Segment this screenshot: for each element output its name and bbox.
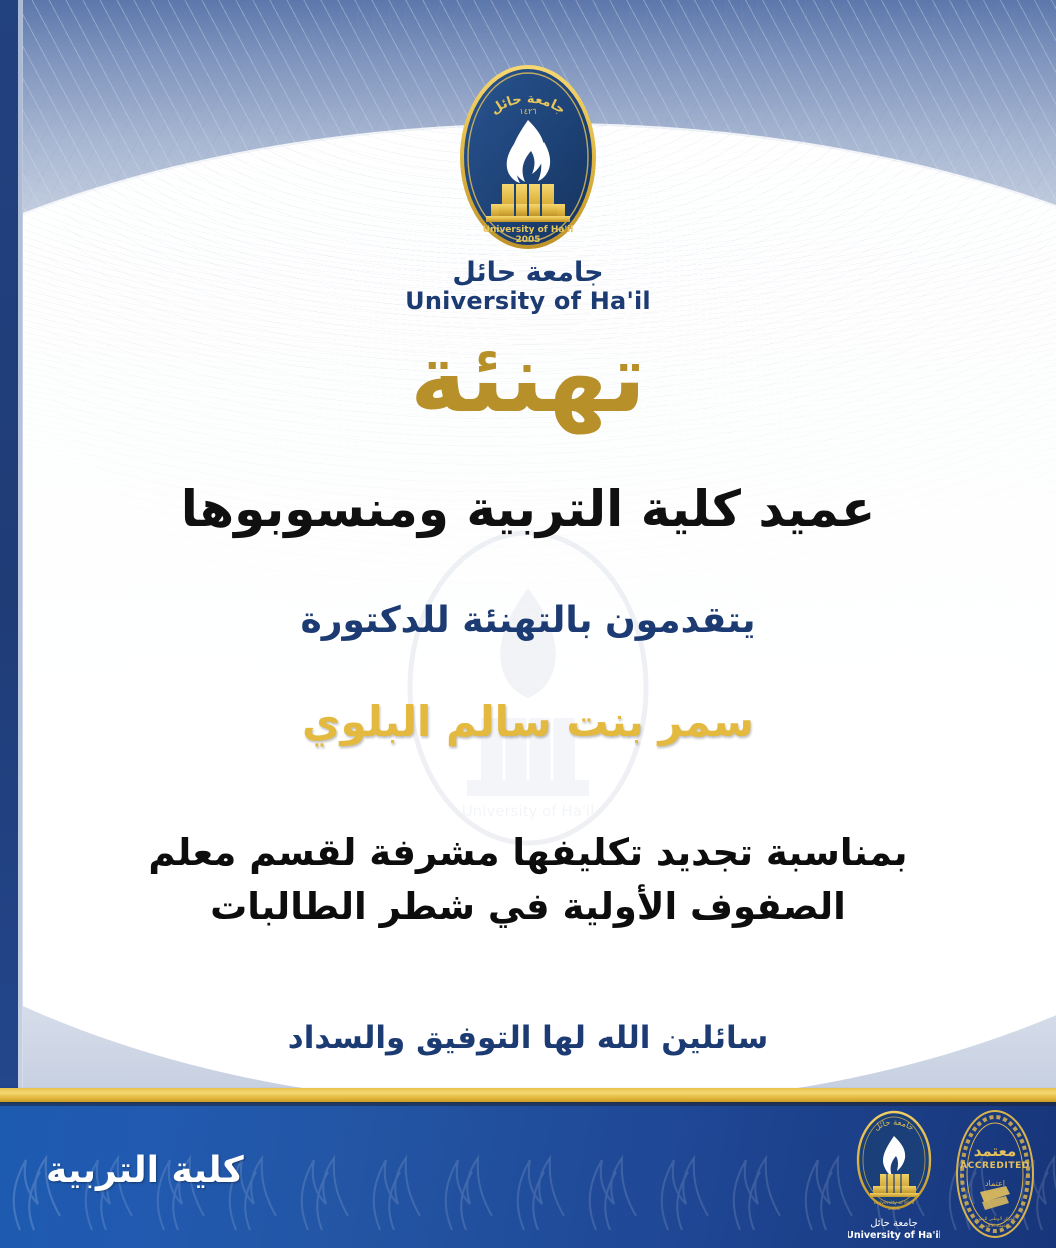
svg-text:ACCREDITED: ACCREDITED (960, 1161, 1030, 1171)
svg-text:والاعتماد الأكاديمي: والاعتماد الأكاديمي (978, 1222, 1012, 1229)
svg-text:جامعة حائل: جامعة حائل (870, 1218, 918, 1229)
accreditation-seal-icon: معتمد ACCREDITED اعتماد المركز الوطني لل… (954, 1108, 1036, 1240)
svg-text:2005: 2005 (888, 1206, 900, 1212)
university-emblem-icon: جامعة حائل ١٤٢٦ (458, 62, 598, 252)
sender-line: عميد كلية التربية ومنسوبوها (0, 478, 1056, 541)
svg-text:معتمد: معتمد (974, 1142, 1017, 1160)
occasion-line: بمناسبة تجديد تكليفها مشرفة لقسم معلم ال… (78, 826, 978, 933)
logo-wordmark-ar: جامعة حائل (378, 258, 678, 288)
svg-text:١٤٢٦: ١٤٢٦ (519, 107, 536, 116)
svg-text:المركز الوطني للتقويم: المركز الوطني للتقويم (975, 1216, 1016, 1222)
left-rail-highlight (18, 0, 23, 1090)
calligraphy-title: تهنئة (0, 330, 1056, 426)
congratulation-card: University of Ha'il (0, 0, 1056, 1248)
action-line: يتقدمون بالتهنئة للدكتورة (0, 598, 1056, 645)
svg-text:اعتماد: اعتماد (985, 1179, 1005, 1188)
svg-text:University of Ha'il: University of Ha'il (874, 1200, 915, 1206)
footer-badges: جامعة حائل University of Ha'il 2005 (848, 1108, 1036, 1244)
svg-text:University of Ha'il: University of Ha'il (483, 225, 574, 235)
logo-wordmark-en: University of Ha'il (378, 288, 678, 316)
card-content: جامعة حائل ١٤٢٦ (0, 0, 1056, 1090)
svg-text:2005: 2005 (515, 235, 540, 245)
closing-line: سائلين الله لها التوفيق والسداد (0, 1018, 1056, 1058)
honoree-name: سمر بنت سالم البلوي (0, 695, 1056, 750)
gold-divider-band (0, 1088, 1056, 1102)
footer-college-name: كلية التربية (46, 1150, 244, 1191)
card-footer: كلية التربية جامعة حائل (0, 1102, 1056, 1248)
footer-university-emblem-icon: جامعة حائل University of Ha'il 2005 (848, 1108, 940, 1244)
svg-text:University of Ha'il: University of Ha'il (848, 1230, 940, 1241)
header-logo: جامعة حائل ١٤٢٦ (378, 62, 678, 315)
gold-divider-shadow (0, 1102, 1056, 1106)
